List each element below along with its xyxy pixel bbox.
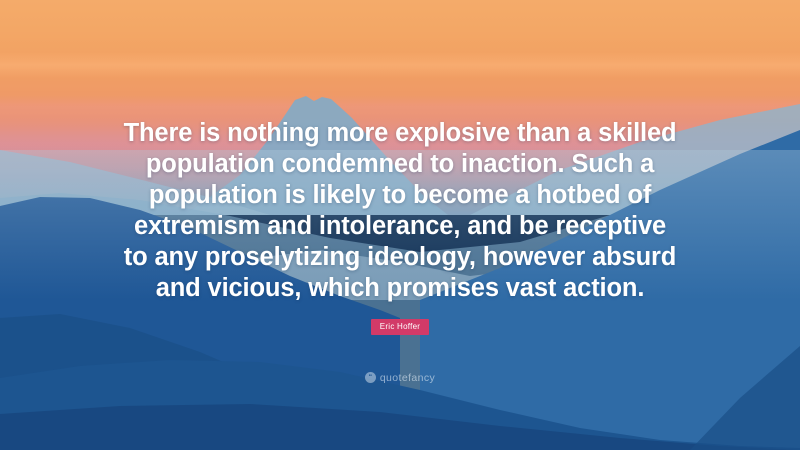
quote-line-6: and vicious, which promises vast action. bbox=[0, 273, 800, 304]
brand-name: quotefancy bbox=[380, 372, 435, 384]
quote-mark-icon: “ bbox=[365, 372, 376, 383]
author-name-badge[interactable]: Eric Hoffer bbox=[371, 319, 429, 335]
quote-line-1: There is nothing more explosive than a s… bbox=[0, 118, 800, 149]
quote-line-5: to any proselytizing ideology, however a… bbox=[0, 242, 800, 273]
quote-line-4: extremism and intolerance, and be recept… bbox=[0, 211, 800, 242]
quote-line-2: population condemned to inaction. Such a bbox=[0, 149, 800, 180]
quote-line-3: population is likely to become a hotbed … bbox=[0, 180, 800, 211]
author-attribution: Eric Hoffer bbox=[0, 316, 800, 335]
brand-watermark: “ quotefancy bbox=[0, 366, 800, 384]
quote-poster: There is nothing more explosive than a s… bbox=[0, 0, 800, 450]
quote-text: There is nothing more explosive than a s… bbox=[0, 118, 800, 304]
watermark-inner: “ quotefancy bbox=[365, 372, 435, 384]
